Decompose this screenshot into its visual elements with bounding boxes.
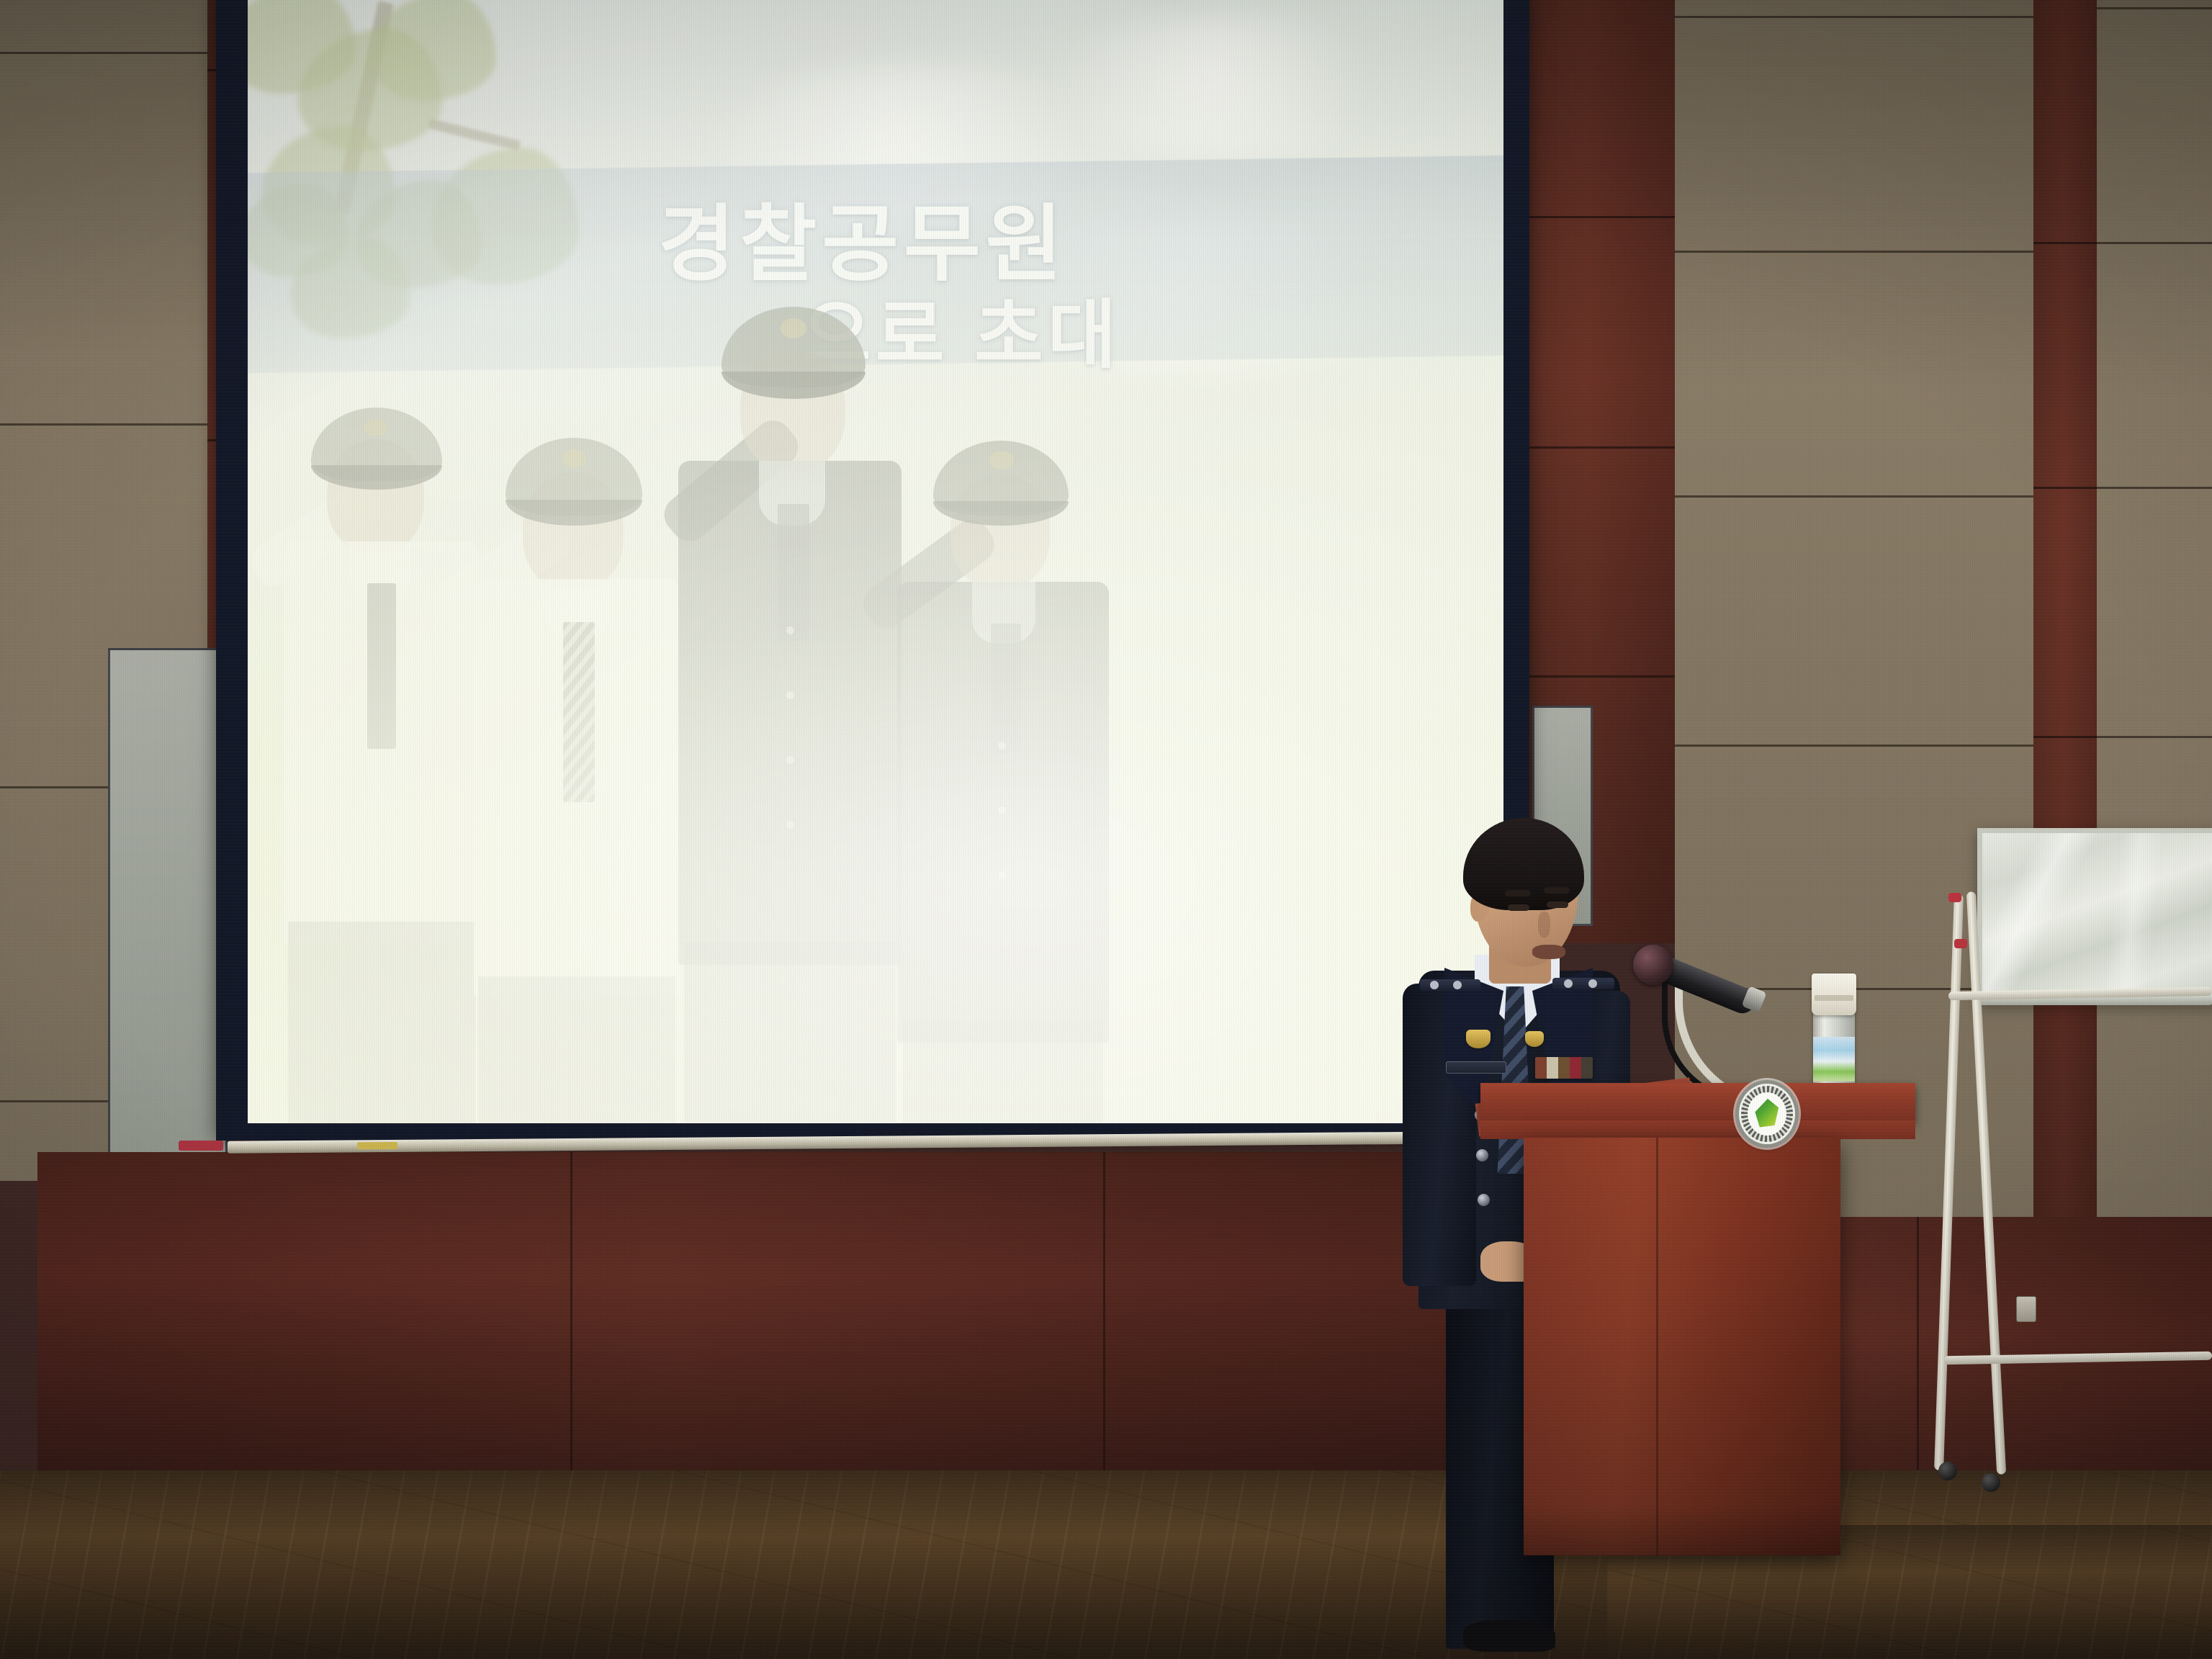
projection-screen-surface: 경찰공무원 으로 초대: [248, 0, 1503, 1123]
wall-panel-edge-right: [2097, 0, 2212, 1325]
speaker-eyebrow-left: [1505, 890, 1531, 896]
easel-knob-top[interactable]: [1948, 893, 1961, 902]
speaker-epaulette-left: [1420, 979, 1480, 991]
speaker-epaulette-right: [1552, 978, 1614, 989]
stage-wall-paneling: [37, 1152, 1607, 1506]
speaker-lapel-badge-icon-right: [1525, 1031, 1544, 1047]
side-board-left: [108, 648, 228, 1156]
speaker-mouth: [1532, 945, 1565, 959]
easel-caster-back: [1982, 1473, 2000, 1492]
bottle-label: [1813, 1037, 1855, 1082]
slide-officer-3: [665, 288, 917, 1123]
podium-top: [1480, 1083, 1915, 1122]
auditorium-photo: 경찰공무원 으로 초대: [0, 0, 2212, 1659]
wall-outlet: [2016, 1296, 2036, 1322]
paper-cup[interactable]: [1812, 974, 1856, 1015]
speaker-eye-left: [1508, 904, 1529, 911]
projection-screen-frame: 경찰공무원 으로 초대: [216, 0, 1529, 1141]
easel-caster-front: [1938, 1462, 1957, 1480]
speaker-jacket-button: [1476, 1149, 1488, 1161]
whiteboard-glare: [1982, 833, 2212, 999]
slide-officer-4: [881, 403, 1126, 1123]
speaker-eyebrow-right: [1544, 887, 1570, 894]
speaker-nose: [1538, 912, 1550, 938]
speaker-name-tag: [1446, 1061, 1506, 1074]
podium-top-edge: [1480, 1120, 1915, 1139]
slide-leaf: [370, 0, 496, 101]
screen-bar-clip: [179, 1141, 223, 1151]
whiteboard-surface[interactable]: [1977, 828, 2212, 1004]
speaker-ribbon-bar: [1535, 1057, 1593, 1079]
podium-body[interactable]: [1524, 1138, 1840, 1555]
speaker-shoe: [1463, 1620, 1555, 1652]
speaker-eye-right: [1547, 902, 1568, 908]
easel-knob-mid[interactable]: [1954, 939, 1967, 948]
wood-column-far-right: [2033, 0, 2100, 1310]
speaker-lapel-badge-icon: [1466, 1030, 1491, 1048]
slide-cloud: [1040, 14, 1414, 158]
speaker-jacket-button: [1478, 1194, 1490, 1206]
podium-emblem: [1735, 1080, 1799, 1148]
